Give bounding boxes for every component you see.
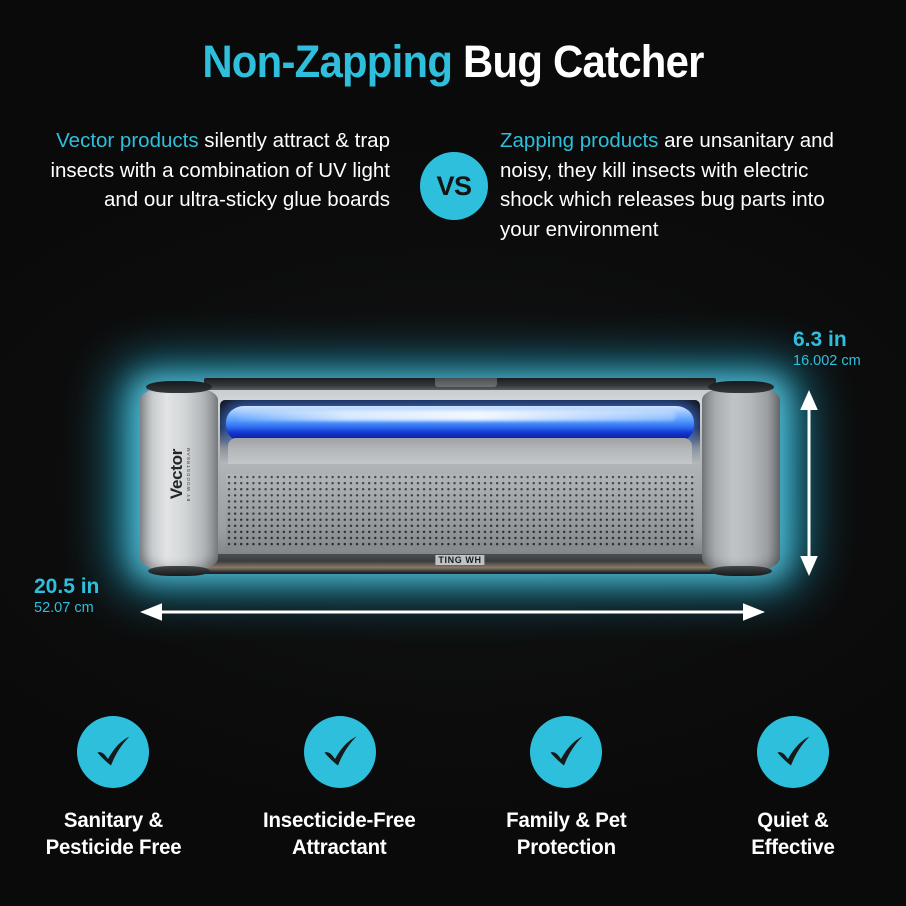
feature-item: Quiet & Effective bbox=[680, 716, 906, 861]
uv-tube bbox=[226, 406, 694, 442]
feature-label: Quiet & Effective bbox=[751, 807, 834, 861]
feature-label: Insecticide-Free Attractant bbox=[263, 807, 415, 861]
vs-badge-label: VS bbox=[436, 171, 471, 202]
feature-item: Insecticide-Free Attractant bbox=[227, 716, 454, 861]
comparison-right-lead: Zapping products bbox=[500, 129, 658, 152]
check-badge bbox=[304, 716, 376, 788]
vector-logo-subtext: BY WOODSTREAM bbox=[186, 422, 191, 526]
endcap-right-top bbox=[708, 381, 774, 393]
check-icon bbox=[544, 730, 588, 774]
endcap-right-bottom bbox=[710, 566, 772, 576]
device-endcap-right bbox=[702, 386, 780, 572]
check-icon bbox=[318, 730, 362, 774]
feature-list: Sanitary & Pesticide Free Insecticide-Fr… bbox=[0, 716, 906, 861]
check-badge bbox=[77, 716, 149, 788]
check-badge bbox=[757, 716, 829, 788]
page-title-accent: Non-Zapping bbox=[202, 36, 452, 87]
vector-logo: Vector BY WOODSTREAM bbox=[167, 422, 191, 526]
width-dimension-label: 20.5 in 52.07 cm bbox=[34, 575, 99, 617]
feature-item: Sanitary & Pesticide Free bbox=[0, 716, 227, 861]
feature-item: Family & Pet Protection bbox=[453, 716, 680, 861]
check-badge bbox=[530, 716, 602, 788]
page-title: Non-Zapping Bug Catcher bbox=[32, 38, 875, 86]
height-imperial: 6.3 in bbox=[793, 328, 861, 353]
product-image: TING WH Vector BY WOODSTREAM bbox=[110, 358, 810, 608]
page-title-plain: Bug Catcher bbox=[452, 36, 704, 87]
horizontal-dimension-arrow-icon bbox=[140, 600, 765, 624]
width-metric: 52.07 cm bbox=[34, 600, 99, 617]
device-top-tab bbox=[435, 378, 497, 387]
comparison-left-lead: Vector products bbox=[56, 129, 198, 152]
height-metric: 16.002 cm bbox=[793, 353, 861, 370]
feature-label: Family & Pet Protection bbox=[506, 807, 626, 861]
vs-badge: VS bbox=[420, 152, 488, 220]
glue-board-tray: TING WH bbox=[206, 554, 714, 572]
check-icon bbox=[771, 730, 815, 774]
bug-catcher-device: TING WH Vector BY WOODSTREAM bbox=[140, 378, 780, 578]
device-endcap-left: Vector BY WOODSTREAM bbox=[140, 386, 218, 572]
height-dimension-label: 6.3 in 16.002 cm bbox=[793, 328, 861, 370]
comparison-right-text: Zapping products are unsanitary and nois… bbox=[500, 126, 848, 244]
vertical-dimension-arrow-icon bbox=[797, 390, 821, 576]
endcap-left-bottom bbox=[148, 566, 210, 576]
endcap-left-top bbox=[146, 381, 212, 393]
width-imperial: 20.5 in bbox=[34, 575, 99, 600]
product-infographic: Non-Zapping Bug Catcher Vector products … bbox=[0, 0, 906, 906]
uv-reflector bbox=[228, 438, 692, 464]
tray-label: TING WH bbox=[435, 555, 484, 565]
comparison-left-text: Vector products silently attract & trap … bbox=[42, 126, 390, 215]
uv-lamp-recess bbox=[220, 400, 700, 464]
feature-label: Sanitary & Pesticide Free bbox=[45, 807, 181, 861]
check-icon bbox=[91, 730, 135, 774]
perforated-grille bbox=[226, 474, 694, 548]
vector-logo-text: Vector bbox=[167, 449, 186, 499]
